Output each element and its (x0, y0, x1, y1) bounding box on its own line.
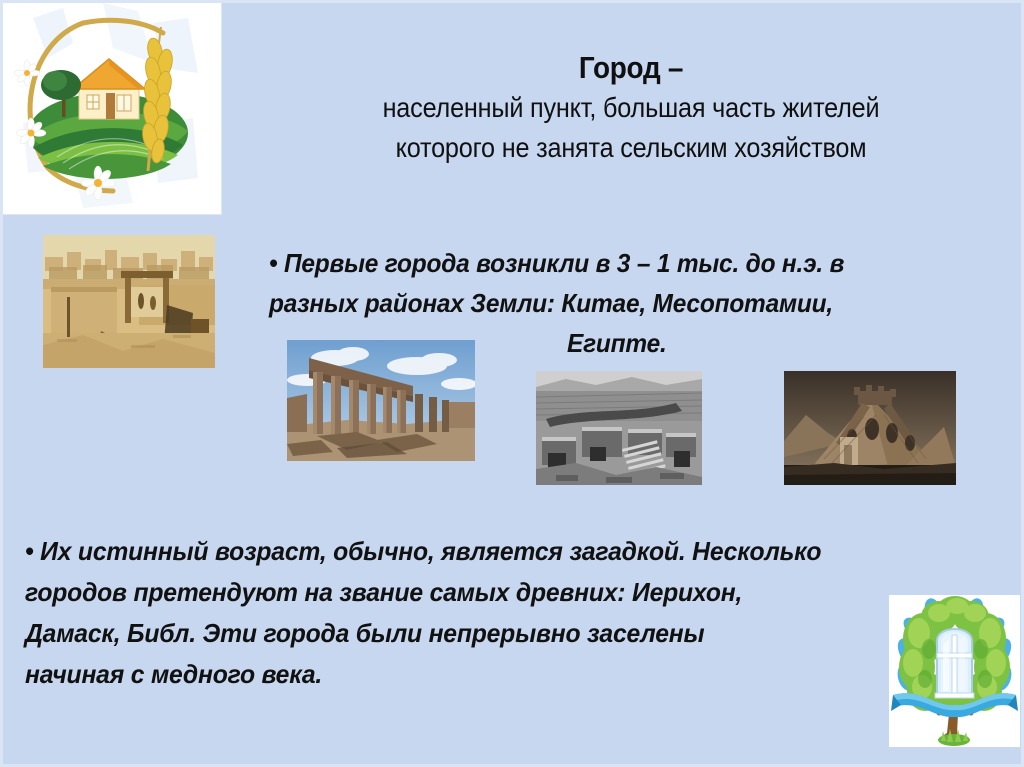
slide-canvas: Город – населенный пункт, большая часть … (0, 0, 1024, 767)
tree-window-emblem-art (889, 595, 1020, 747)
title-subtitle-line-1: населенный пункт, большая часть жителей (289, 89, 973, 127)
bullet-one-line-2: разных районах Земли: Китае, Месопотамии… (269, 283, 965, 323)
ancient-colonnade-ruins-photo (287, 340, 475, 461)
hilltop-fortress-ruins-photo (784, 371, 956, 485)
slide-title-block: Город – населенный пункт, большая часть … (251, 49, 1011, 167)
mudbrick-city-art (43, 235, 215, 368)
title-subtitle-line-2: которого не занята сельским хозяйством (289, 129, 973, 167)
bullet-two-line-2: городов претендуют на звание самых древн… (25, 572, 937, 613)
hill-fortress-art (784, 371, 956, 485)
farm-village-logo-art (3, 3, 221, 214)
archaeological-excavation-photo (536, 371, 702, 485)
farm-village-logo (3, 3, 222, 215)
colonnade-ruins-art (287, 340, 475, 461)
bullet-two-line-3: Дамаск, Библ. Эти города были непрерывно… (25, 613, 937, 654)
bullet-one-line-1: • Первые города возникли в 3 – 1 тыс. до… (269, 243, 965, 283)
bullet-two-line-1: • Их истинный возраст, обычно, является … (25, 531, 937, 572)
tree-window-emblem (889, 595, 1020, 747)
page-title: Город – (289, 49, 973, 87)
ancient-mudbrick-city-photo (43, 235, 215, 368)
excavation-art (536, 371, 702, 485)
bullet-two: • Их истинный возраст, обычно, является … (25, 531, 937, 695)
bullet-two-line-4: начиная с медного века. (25, 654, 937, 695)
